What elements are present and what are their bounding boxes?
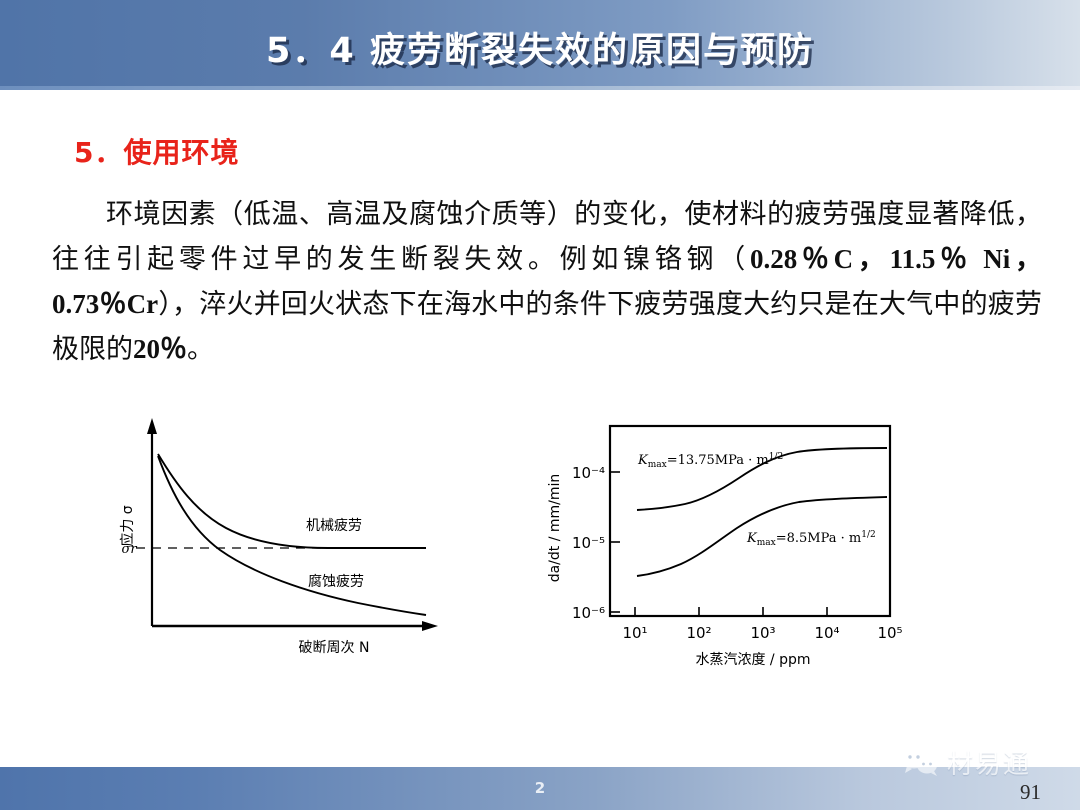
x-tick-label-1: 10² (686, 624, 711, 642)
x-axis-title: 水蒸汽浓度 / ppm (695, 652, 810, 668)
wechat-icon (900, 747, 940, 777)
annotation-1-text: =13.75MPa · m (667, 453, 769, 468)
page-title: 5．4 疲劳断裂失效的原因与预防 (0, 22, 1080, 73)
x-tick-label-0: 10¹ (622, 624, 647, 642)
x-tick-labels: 10¹ 10² 10³ 10⁴ 10⁵ (622, 624, 902, 642)
body-paragraph: 环境因素（低温、高温及腐蚀介质等）的变化，使材料的疲劳强度显著降低，往往引起零件… (52, 192, 1042, 372)
x-axis-label: 破断周次 N (299, 640, 370, 656)
figure-row: 应力 σ σr 机械疲劳 腐蚀疲劳 破断周次 N (0, 400, 1080, 700)
x-tick-label-3: 10⁴ (814, 624, 839, 642)
x-tick-label-2: 10³ (750, 624, 775, 642)
y-tick-label-0: 10⁻⁴ (572, 464, 605, 482)
watermark-text: 材易通 (947, 744, 1031, 781)
x-axis-arrow (422, 621, 438, 631)
series-label-corrosion-fatigue: 腐蚀疲劳 (308, 573, 364, 590)
y-axis-label: 应力 σ (119, 505, 136, 546)
watermark: 材易通 (900, 742, 1070, 782)
y-tick-label-2: 10⁻⁶ (572, 604, 605, 622)
annotation-2-text: =8.5MPa · m (776, 531, 862, 546)
annotation-2-exponent: 1/2 (861, 530, 875, 540)
series-line-mechanical-fatigue (158, 454, 426, 548)
series-line-corrosion-fatigue (158, 456, 426, 615)
annotation-1-exponent: 1/2 (769, 452, 783, 462)
y-tick-labels: 10⁻⁴ 10⁻⁵ 10⁻⁶ (572, 464, 605, 622)
dadt-chart-svg: Kmax=13.75MPa · m1/2 Kmax=8.5MPa · m1/2 … (525, 410, 905, 675)
y-axis-title: da/dt / mm/min (547, 474, 563, 583)
y-axis-arrow (147, 418, 157, 434)
chart-dadt-vs-humidity: Kmax=13.75MPa · m1/2 Kmax=8.5MPa · m1/2 … (525, 410, 905, 675)
fatigue-limit-label: σr (121, 542, 137, 557)
sn-curve-svg: 应力 σ σr 机械疲劳 腐蚀疲劳 破断周次 N (96, 408, 446, 673)
x-tick-label-4: 10⁵ (877, 624, 902, 642)
series-label-mechanical-fatigue: 机械疲劳 (306, 517, 362, 534)
chart-sn-curve: 应力 σ σr 机械疲劳 腐蚀疲劳 破断周次 N (96, 408, 446, 673)
section-heading: 5．使用环境 (74, 131, 239, 171)
annotation-2-subscript: max (757, 538, 776, 548)
header-underline (0, 86, 1080, 90)
page-number: 91 (1020, 780, 1041, 805)
y-tick-label-1: 10⁻⁵ (572, 534, 605, 552)
annotation-1-subscript: max (648, 460, 667, 470)
